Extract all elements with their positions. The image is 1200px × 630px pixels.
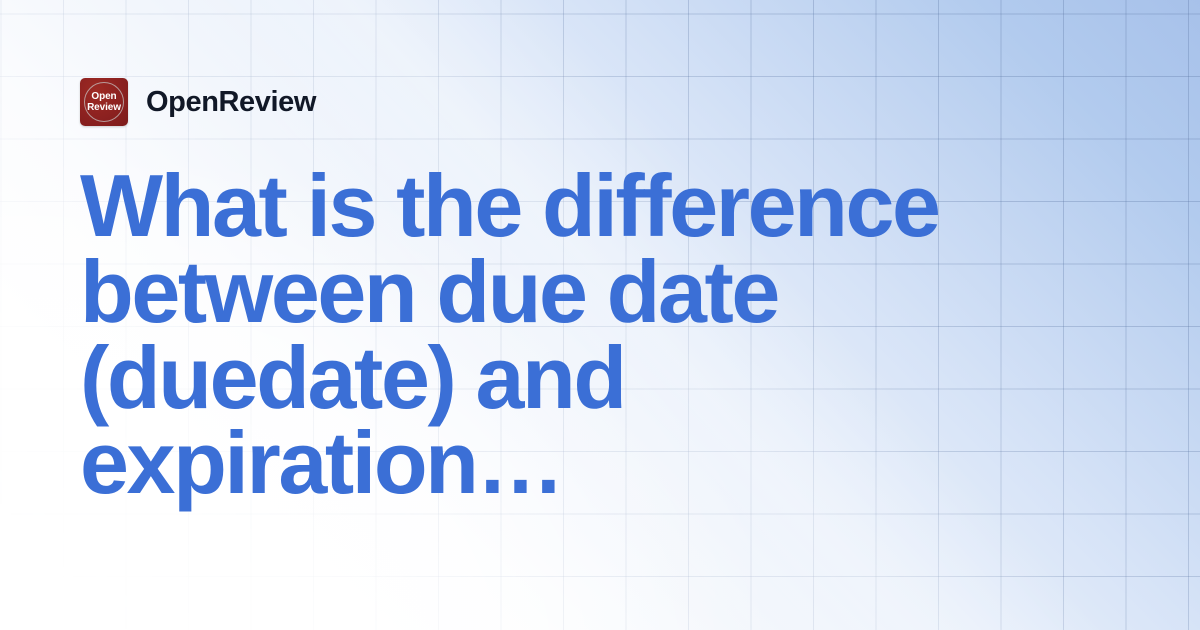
brand-row: Open Review OpenReview — [80, 78, 316, 126]
logo-text-line-2: Review — [87, 102, 121, 113]
card-content: Open Review OpenReview What is the diffe… — [80, 0, 1140, 630]
logo-wordmark-stacked: Open Review — [80, 91, 128, 113]
brand-name: OpenReview — [146, 88, 316, 117]
openreview-logo-icon: Open Review — [80, 78, 128, 126]
og-card: Open Review OpenReview What is the diffe… — [0, 0, 1200, 630]
page-title: What is the difference between due date … — [80, 163, 1090, 506]
logo-text-line-1: Open — [91, 91, 116, 102]
